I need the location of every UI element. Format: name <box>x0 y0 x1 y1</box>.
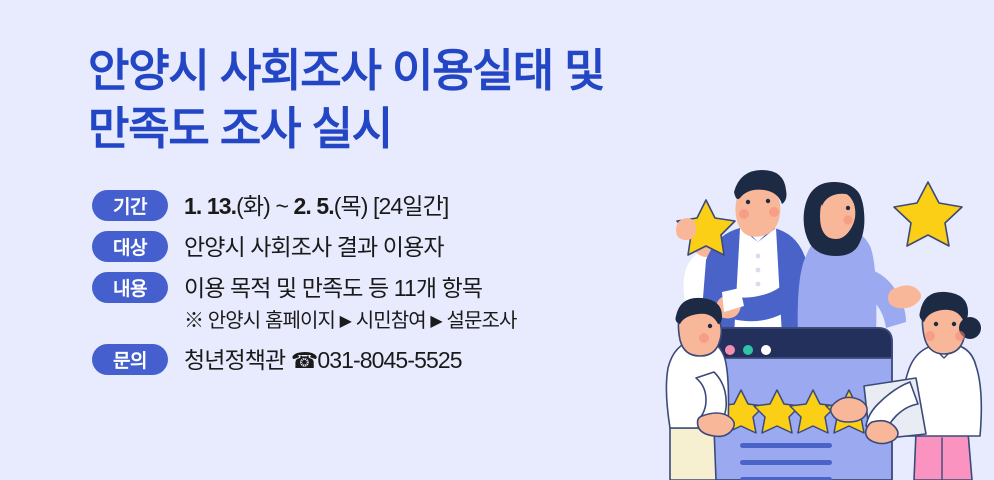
info-row-period: 기간 1. 13.(화) ~ 2. 5.(목) [24일간] <box>92 190 692 222</box>
target-value: 안양시 사회조사 결과 이용자 <box>184 232 692 263</box>
info-row-target: 대상 안양시 사회조사 결과 이용자 <box>92 231 692 263</box>
note-breadcrumb-survey: 설문조사 <box>446 310 516 332</box>
browser-dot-pink <box>725 345 735 355</box>
telephone-icon: ☎ <box>291 349 318 374</box>
title-line-2: 만족도 조사 실시 <box>88 100 728 158</box>
badge-content: 내용 <box>92 272 168 303</box>
browser-dot-white <box>761 345 771 355</box>
info-list: 기간 1. 13.(화) ~ 2. 5.(목) [24일간] 대상 안양시 사회… <box>92 190 692 386</box>
info-row-content: 내용 이용 목적 및 만족도 등 11개 항목 ※ 안양시 홈페이지 ▶ 시민참… <box>92 272 692 336</box>
info-row-contact: 문의 청년정책관 ☎031-8045-5525 <box>92 344 692 376</box>
satisfaction-survey-illustration <box>664 160 994 480</box>
contact-department: 청년정책관 <box>184 347 285 373</box>
pointing-hand-icon <box>831 397 867 422</box>
period-value: 1. 13.(화) ~ 2. 5.(목) [24일간] <box>184 191 692 222</box>
page-title: 안양시 사회조사 이용실태 및 만족도 조사 실시 <box>88 42 728 157</box>
badge-contact: 문의 <box>92 344 168 375</box>
note-breadcrumb-participation: 시민참여 <box>356 310 426 332</box>
badge-target: 대상 <box>92 231 168 262</box>
contact-phone-number: 031-8045-5525 <box>317 347 461 373</box>
chevron-right-icon-2: ▶ <box>430 311 441 330</box>
browser-dot-teal <box>743 345 753 355</box>
contact-text-group: 청년정책관 ☎031-8045-5525 <box>184 344 692 376</box>
content-text-group: 이용 목적 및 만족도 등 11개 항목 ※ 안양시 홈페이지 ▶ 시민참여 ▶… <box>184 272 692 336</box>
period-end-date: 2. 5. <box>293 193 333 219</box>
period-text-group: 1. 13.(화) ~ 2. 5.(목) [24일간] <box>184 190 692 222</box>
note-breadcrumb-homepage: 안양시 홈페이지 <box>208 310 335 332</box>
period-duration: [24일간] <box>373 193 448 219</box>
announcement-banner: 안양시 사회조사 이용실태 및 만족도 조사 실시 기간 1. 13.(화) ~… <box>0 0 994 480</box>
note-mark: ※ <box>184 310 203 332</box>
period-start-date: 1. 13. <box>184 193 236 219</box>
content-note: ※ 안양시 홈페이지 ▶ 시민참여 ▶ 설문조사 <box>184 308 692 335</box>
content-value: 이용 목적 및 만족도 등 11개 항목 <box>184 273 692 304</box>
period-start-day: (화) <box>236 193 270 219</box>
chevron-right-icon: ▶ <box>340 311 351 330</box>
contact-value: 청년정책관 ☎031-8045-5525 <box>184 345 692 376</box>
period-tilde: ~ <box>275 193 288 219</box>
title-line-1: 안양시 사회조사 이용실태 및 <box>88 42 728 100</box>
period-end-day: (목) <box>334 193 368 219</box>
badge-period: 기간 <box>92 190 168 221</box>
target-text-group: 안양시 사회조사 결과 이용자 <box>184 231 692 263</box>
